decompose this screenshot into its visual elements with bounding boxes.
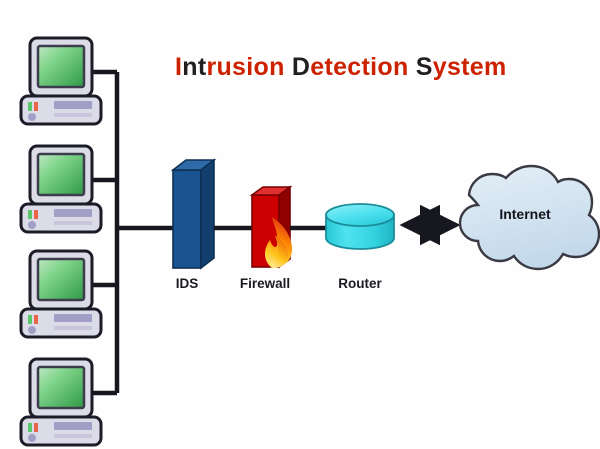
computer-base-2 <box>21 204 101 232</box>
led-green-4 <box>28 423 32 432</box>
monitor-2 <box>30 146 92 204</box>
led-green-3 <box>28 315 32 324</box>
network-diagram: Intrusion Detection System <box>0 0 600 449</box>
ids-node <box>173 160 214 268</box>
drive-bay-4 <box>54 422 92 430</box>
led-green-1 <box>28 102 32 111</box>
computer-base-1 <box>21 96 101 124</box>
led-red-4 <box>34 423 38 432</box>
internet-label: Internet <box>499 206 551 222</box>
page-title: Intrusion Detection System <box>175 53 507 81</box>
ids-label: IDS <box>176 276 199 291</box>
title-seg-0: I <box>175 53 182 81</box>
title-seg-6 <box>409 53 416 81</box>
computer-base-4 <box>21 417 101 445</box>
router-label: Router <box>338 276 382 291</box>
power-button-2 <box>28 221 36 229</box>
drive-slot-4 <box>54 434 92 438</box>
led-red-3 <box>34 315 38 324</box>
network-bus <box>90 72 176 393</box>
led-red-1 <box>34 102 38 111</box>
monitor-4 <box>30 359 92 417</box>
workstation-1 <box>21 38 101 124</box>
workstation-2 <box>21 146 101 232</box>
ids-side-face <box>201 160 214 268</box>
led-red-2 <box>34 210 38 219</box>
power-button-3 <box>28 326 36 334</box>
workstation-3 <box>21 251 101 337</box>
router-node <box>326 204 394 249</box>
firewall-node <box>252 187 292 268</box>
title-seg-7: S <box>416 53 433 81</box>
diagram-canvas: Intrusion Detection System <box>0 0 600 449</box>
monitor-3 <box>30 251 92 309</box>
title-seg-1: nt <box>182 53 207 81</box>
title-seg-3 <box>285 53 292 81</box>
workstation-4 <box>21 359 101 445</box>
drive-slot-3 <box>54 326 92 330</box>
drive-slot-2 <box>54 221 92 225</box>
firewall-label: Firewall <box>240 276 290 291</box>
monitor-1 <box>30 38 92 96</box>
computer-base-3 <box>21 309 101 337</box>
drive-slot-1 <box>54 113 92 117</box>
ids-front-face <box>173 170 201 268</box>
drive-bay-1 <box>54 101 92 109</box>
router-cylinder-top <box>326 204 394 226</box>
led-green-2 <box>28 210 32 219</box>
power-button-4 <box>28 434 36 442</box>
title-seg-8: ystem <box>433 53 507 81</box>
title-seg-5: etection <box>310 53 408 81</box>
drive-bay-2 <box>54 209 92 217</box>
power-button-1 <box>28 113 36 121</box>
title-seg-2: rusion <box>206 53 284 81</box>
drive-bay-3 <box>54 314 92 322</box>
title-seg-4: D <box>292 53 310 81</box>
